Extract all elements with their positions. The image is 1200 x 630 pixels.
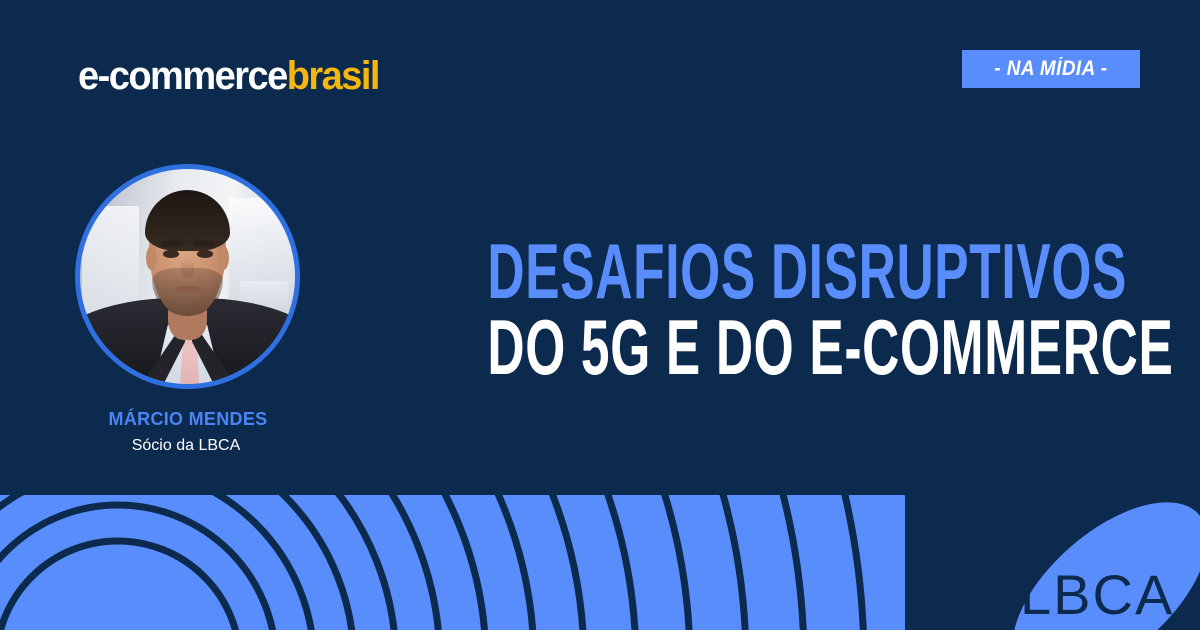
- brand-part-primary: e-commerce: [78, 54, 287, 98]
- photo-ear-right: [218, 246, 229, 270]
- lbca-logo-svg: LBCA: [984, 496, 1200, 630]
- lbca-wordmark: LBCA: [1020, 563, 1174, 626]
- photo-eye-right: [197, 250, 212, 257]
- status-badge-label: - NA MÍDIA -: [994, 57, 1107, 81]
- brand-part-secondary: brasil: [287, 54, 379, 98]
- speaker-role: Sócio da LBCA: [0, 437, 372, 455]
- avatar-photo: [78, 167, 297, 386]
- ecommerce-brasil-logo: e-commercebrasil: [78, 56, 379, 96]
- photo-eye-left: [163, 250, 178, 257]
- decorative-arc-band: [0, 495, 905, 630]
- status-badge: - NA MÍDIA -: [962, 50, 1140, 88]
- social-card: e-commercebrasil - NA MÍDIA -: [0, 0, 1200, 630]
- lbca-logo: LBCA: [984, 496, 1200, 630]
- photo-nose: [181, 258, 194, 278]
- avatar: [75, 164, 300, 389]
- page-title-line-2: DO 5G E DO E-COMMERCE: [487, 312, 966, 384]
- photo-mouth: [175, 286, 199, 292]
- speaker-name: MÁRCIO MENDES: [0, 409, 376, 430]
- arc-stripes-svg: [0, 495, 905, 630]
- photo-ear-left: [146, 246, 157, 270]
- page-title: DESAFIOS DISRUPTIVOS DO 5G E DO E-COMMER…: [364, 236, 1090, 384]
- page-title-line-1: DESAFIOS DISRUPTIVOS: [487, 236, 966, 308]
